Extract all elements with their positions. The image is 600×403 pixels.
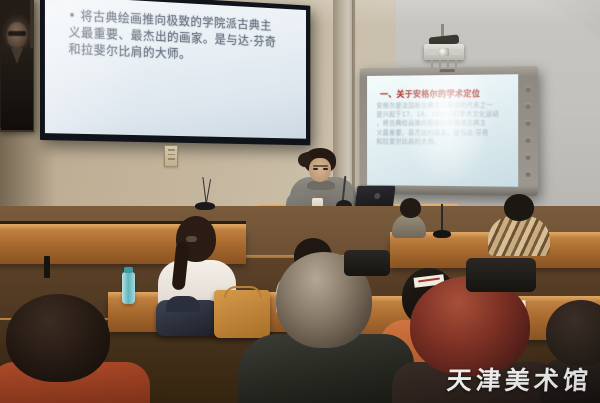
venue-watermark: 天津美术馆 (446, 361, 594, 397)
laptop-logo (374, 193, 381, 199)
projection-screen-surface: • 将古典绘画推向极致的学院派古典主 义最重要、最杰出的画家。是与达·芬奇 和拉… (45, 0, 306, 139)
bottle-cap (124, 267, 133, 273)
presenter-face (309, 158, 331, 182)
interactive-whiteboard[interactable]: 一、关于安格尔的学术定位 安格尔是法国新古典主义画派的代表之一 是兴起于17、1… (360, 66, 538, 196)
slide-body: 安格尔是法国新古典主义画派的代表之一 是兴起于17、18、19世纪的学术文化运动… (376, 101, 510, 147)
person-torso (488, 216, 550, 256)
portrait-image (0, 0, 30, 128)
projector-lens (438, 48, 449, 56)
framed-portrait (0, 0, 34, 132)
microphone-stem (441, 204, 443, 232)
slide-text: • 将古典绘画推向极致的学院派古典主 义最重要、最杰出的画家。是与达·芬奇 和拉… (68, 7, 297, 67)
microphone-base (195, 202, 215, 210)
board-button[interactable] (525, 103, 531, 109)
chair-back (344, 250, 390, 276)
desk-leg (44, 256, 50, 278)
slide-title: 一、关于安格尔的学术定位 (380, 88, 510, 99)
lecture-hall-photo: • 将古典绘画推向极致的学院派古典主 义最重要、最杰出的画家。是与达·芬奇 和拉… (0, 0, 600, 403)
desk-microphone-right (432, 222, 452, 238)
whiteboard-surface: 一、关于安格尔的学术定位 安格尔是法国新古典主义画派的代表之一 是兴起于17、1… (367, 74, 518, 187)
presenter-eye (313, 168, 318, 170)
microphone-base (433, 230, 451, 238)
backpack-strap (166, 296, 200, 312)
projection-screen: • 将古典绘画推向极致的学院派古典主 义最重要、最杰出的画家。是与达·芬奇 和拉… (40, 0, 310, 145)
desk-microphone-left (193, 193, 215, 209)
board-button[interactable] (525, 153, 531, 159)
projector-vent (452, 49, 461, 55)
audience-member (392, 198, 426, 234)
hair-tie (186, 236, 197, 242)
audience-member-front-left (0, 290, 150, 403)
projector-vent (427, 49, 436, 55)
chair-back (466, 258, 536, 292)
person-head (504, 194, 534, 221)
board-button[interactable] (525, 170, 531, 176)
presenter-brow (313, 165, 328, 167)
board-button-panel[interactable] (522, 80, 533, 182)
wall-outlet-plate (164, 145, 178, 167)
person-head (400, 198, 421, 218)
person-head (546, 300, 600, 366)
person-head (6, 294, 110, 382)
audience-member (488, 196, 548, 252)
board-button[interactable] (525, 136, 531, 142)
board-button[interactable] (525, 86, 531, 92)
presenter-eye (323, 168, 328, 170)
glasses-icon (8, 31, 26, 36)
board-sensor (440, 69, 455, 72)
board-button[interactable] (525, 120, 531, 126)
